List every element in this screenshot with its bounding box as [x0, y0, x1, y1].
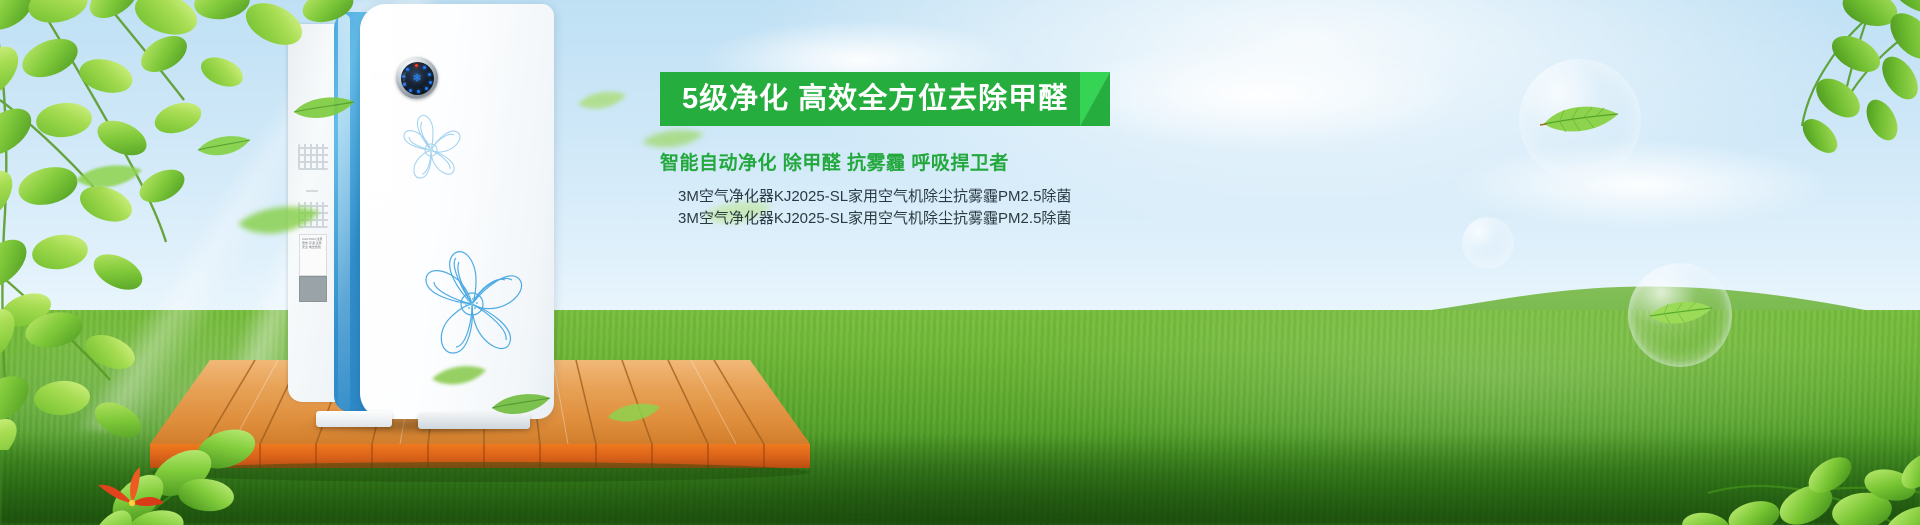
rating-label: [299, 276, 327, 302]
status-led-icon: [423, 66, 426, 69]
power-led-icon: [415, 64, 418, 67]
purifier-slot: [306, 190, 318, 192]
product-banner: CAUTION 注意 警告 高温 注意安全 电击危险 ❄ 空气净化: [0, 0, 1920, 525]
snowflake-icon: ❄: [412, 73, 421, 84]
purifier-foot: [418, 413, 530, 429]
vent-grille-icon: [298, 202, 328, 228]
status-led-icon: [429, 81, 432, 84]
status-led-icon: [428, 73, 431, 76]
air-purifier: CAUTION 注意 警告 高温 注意安全 电击危险 ❄ 空气净化: [288, 4, 554, 419]
display-side-text: 空气净化: [403, 71, 407, 84]
vent-grille-icon: [298, 144, 328, 170]
warning-label: CAUTION 注意 警告 高温 注意安全 电击危险: [299, 234, 327, 276]
status-led-icon: [425, 87, 428, 90]
purifier-front-panel: [360, 4, 554, 419]
purifier-display-panel[interactable]: ❄ 空气净化: [396, 57, 438, 99]
description-line-1: 3M空气净化器KJ2025-SL家用空气机除尘抗雾霾PM2.5除菌: [660, 186, 1380, 208]
headline-bar-tail: [1080, 72, 1110, 126]
headline-banner: 5级净化 高效全方位去除甲醛: [660, 72, 1380, 126]
bubble-icon: [1462, 217, 1514, 269]
description-line-2: 3M空气净化器KJ2025-SL家用空气机除尘抗雾霾PM2.5除菌: [660, 208, 1380, 230]
headline-text: 5级净化 高效全方位去除甲醛: [682, 72, 1068, 126]
copy-block: 5级净化 高效全方位去除甲醛 智能自动净化 除甲醛 抗雾霾 呼吸捍卫者 3M空气…: [660, 72, 1380, 230]
purifier-foot: [316, 411, 392, 427]
status-led-icon: [406, 68, 409, 71]
bubble-icon: [1519, 59, 1641, 181]
status-led-icon: [417, 90, 420, 93]
bubble-icon: [1628, 263, 1732, 367]
status-led-icon: [409, 89, 412, 92]
subheadline-text: 智能自动净化 除甲醛 抗雾霾 呼吸捍卫者: [660, 148, 1380, 175]
